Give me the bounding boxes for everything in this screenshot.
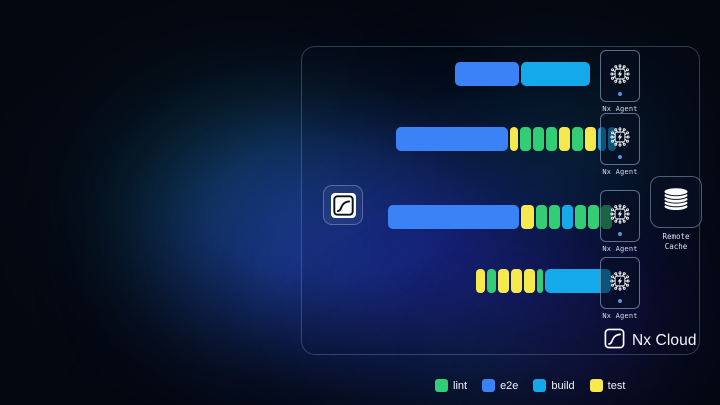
- task-bar-test[interactable]: [585, 127, 596, 151]
- legend-label: e2e: [500, 380, 518, 392]
- legend-swatch-lint: [435, 379, 448, 392]
- task-bar-lint[interactable]: [533, 127, 544, 151]
- nx-agent-label: Nx Agent: [600, 312, 640, 320]
- nx-agent-box: [600, 113, 640, 165]
- task-bar-lint[interactable]: [536, 205, 547, 229]
- nx-logo-icon: [331, 193, 356, 218]
- task-bar-e2e[interactable]: [388, 205, 519, 229]
- nx-agent-label: Nx Agent: [600, 105, 640, 113]
- remote-cache-label: Remote Cache: [650, 232, 702, 252]
- nx-agent[interactable]: Nx Agent: [600, 190, 640, 253]
- cpu-chip-icon: [607, 124, 633, 155]
- task-bar-build[interactable]: [562, 205, 573, 229]
- task-bar-lint[interactable]: [520, 127, 531, 151]
- gantt-row: [476, 269, 611, 293]
- task-bar-lint[interactable]: [537, 269, 543, 293]
- task-bar-test[interactable]: [510, 127, 518, 151]
- gantt-row: [455, 62, 590, 86]
- cpu-chip-icon: [607, 268, 633, 299]
- status-dot: [618, 92, 622, 96]
- nx-cloud-label: Nx Cloud: [632, 332, 697, 350]
- status-dot: [618, 299, 622, 303]
- legend-swatch-e2e: [482, 379, 495, 392]
- database-stack-icon: [661, 184, 691, 221]
- legend-item[interactable]: lint: [435, 379, 467, 392]
- legend-item[interactable]: test: [590, 379, 626, 392]
- task-bar-test[interactable]: [498, 269, 509, 293]
- gantt-row: [388, 205, 612, 229]
- nx-logo-badge[interactable]: [323, 185, 363, 225]
- status-dot: [618, 232, 622, 236]
- task-bar-lint[interactable]: [487, 269, 496, 293]
- task-bar-test[interactable]: [524, 269, 535, 293]
- legend-swatch-build: [533, 379, 546, 392]
- task-bar-test[interactable]: [511, 269, 522, 293]
- legend-label: test: [608, 380, 626, 392]
- legend-swatch-test: [590, 379, 603, 392]
- nx-cloud-badge[interactable]: Nx Cloud: [604, 328, 697, 354]
- nx-agent[interactable]: Nx Agent: [600, 50, 640, 113]
- legend-label: build: [551, 380, 574, 392]
- cpu-chip-icon: [607, 201, 633, 232]
- legend-item[interactable]: build: [533, 379, 574, 392]
- nx-agent[interactable]: Nx Agent: [600, 257, 640, 320]
- task-bar-lint[interactable]: [588, 205, 599, 229]
- remote-cache[interactable]: Remote Cache: [650, 176, 702, 252]
- nx-agent-box: [600, 50, 640, 102]
- cpu-chip-icon: [607, 61, 633, 92]
- task-bar-test[interactable]: [521, 205, 534, 229]
- nx-agent-label: Nx Agent: [600, 168, 640, 176]
- task-bar-e2e[interactable]: [396, 127, 508, 151]
- task-bar-e2e[interactable]: [455, 62, 519, 86]
- task-bar-lint[interactable]: [549, 205, 560, 229]
- nx-cloud-logo-icon: [604, 328, 625, 354]
- task-bar-test[interactable]: [559, 127, 570, 151]
- nx-cloud-diagram: Nx Agent Nx Agent Nx Agent Nx Agent: [0, 0, 720, 405]
- nx-agent-box: [600, 190, 640, 242]
- legend: linte2ebuildtest: [435, 379, 625, 392]
- nx-agent-label: Nx Agent: [600, 245, 640, 253]
- nx-agent[interactable]: Nx Agent: [600, 113, 640, 176]
- gantt-row: [396, 127, 616, 151]
- task-bar-lint[interactable]: [572, 127, 583, 151]
- task-bar-lint[interactable]: [575, 205, 586, 229]
- task-bar-test[interactable]: [476, 269, 485, 293]
- legend-item[interactable]: e2e: [482, 379, 518, 392]
- legend-label: lint: [453, 380, 467, 392]
- nx-agent-box: [600, 257, 640, 309]
- task-bar-build[interactable]: [521, 62, 590, 86]
- status-dot: [618, 155, 622, 159]
- task-bar-lint[interactable]: [546, 127, 557, 151]
- remote-cache-box: [650, 176, 702, 228]
